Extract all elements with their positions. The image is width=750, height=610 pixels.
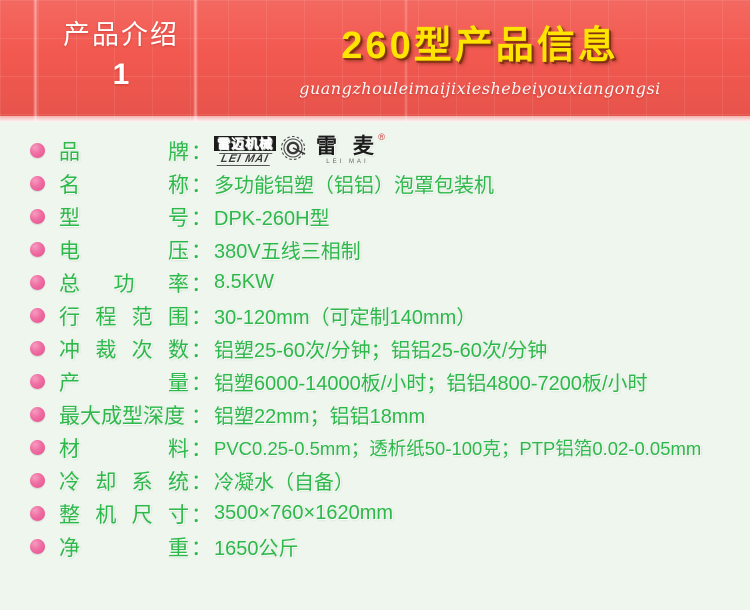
page-title: 260型产品信息 <box>230 22 730 70</box>
spec-colon: ： <box>191 367 212 397</box>
spec-row: 总 功 率 ： 8.5KW <box>0 266 750 299</box>
spec-label: 材 料 <box>59 433 191 463</box>
spec-colon: ： <box>191 466 212 496</box>
trademark-icon: ® <box>378 133 385 142</box>
spec-value: 3500×760×1620mm <box>214 502 750 525</box>
spec-label-char: 率 <box>168 268 189 298</box>
logo-leimai-machinery: 雷迈机械 LEI MAI <box>214 136 276 166</box>
spec-label-char: 机 <box>95 499 116 529</box>
logo-brand-name: 雷 麦 <box>316 136 379 157</box>
banner-title-block: 260型产品信息 guangzhouleimaijixieshebeiyouxi… <box>230 22 730 98</box>
logo-cn-name: 雷迈机械 <box>214 136 276 151</box>
spec-label-char: 材 <box>59 433 80 463</box>
spec-label-char: 冷 <box>59 466 80 496</box>
spec-row: 最 大 成 型 深 度 ： 铝塑22mm；铝铝18mm <box>0 398 750 431</box>
spec-label-char: 次 <box>132 334 153 364</box>
spec-label-char: 净 <box>59 532 80 562</box>
product-info-page: 产品介绍 1 260型产品信息 guangzhouleimaijixiesheb… <box>0 0 750 610</box>
spec-row: 冷 却 系 统 ： 冷凝水（自备） <box>0 464 750 497</box>
specification-list: 品 牌 ： 雷迈机械 LEI MAI <box>0 134 750 563</box>
spec-label: 冲 裁 次 数 <box>59 334 191 364</box>
spec-label-char: 料 <box>168 433 189 463</box>
spec-label: 净 重 <box>59 532 191 562</box>
spec-value: 8.5KW <box>214 271 750 294</box>
spec-label-char: 深 <box>143 400 164 430</box>
spec-value: 30-120mm（可定制140mm） <box>214 301 750 330</box>
bullet-icon <box>30 407 45 422</box>
bullet-icon <box>30 539 45 554</box>
spec-label: 产 量 <box>59 367 191 397</box>
spec-colon: ： <box>191 202 212 232</box>
bullet-icon <box>30 275 45 290</box>
spec-label-char: 总 <box>59 268 80 298</box>
spec-row: 产 量 ： 铝塑6000-14000板/小时；铝铝4800-7200板/小时 <box>0 365 750 398</box>
spec-row: 品 牌 ： 雷迈机械 LEI MAI <box>0 134 750 167</box>
bullet-icon <box>30 143 45 158</box>
spec-label-char: 尺 <box>132 499 153 529</box>
spec-label-char: 围 <box>168 301 189 331</box>
spec-label-char: 型 <box>122 400 143 430</box>
spec-value: 铝塑6000-14000板/小时；铝铝4800-7200板/小时 <box>214 367 750 396</box>
spec-colon: ： <box>191 334 212 364</box>
spec-colon: ： <box>191 499 212 529</box>
section-number: 1 <box>46 56 196 94</box>
spec-label: 最 大 成 型 深 度 <box>59 400 191 430</box>
spec-row: 材 料 ： PVC0.25-0.5mm；透析纸50-100克；PTP铝箔0.02… <box>0 431 750 464</box>
spec-row: 名 称 ： 多功能铝塑（铝铝）泡罩包装机 <box>0 167 750 200</box>
spec-label-char: 重 <box>168 532 189 562</box>
spec-label-char: 统 <box>168 466 189 496</box>
section-label-block: 产品介绍 1 <box>46 18 196 94</box>
logo-en-name: LEI MAI <box>217 153 273 166</box>
spec-label-char: 电 <box>59 235 80 265</box>
spec-label-char: 数 <box>168 334 189 364</box>
spec-value: 380V五线三相制 <box>214 235 750 264</box>
spec-value: 铝塑25-60次/分钟；铝铝25-60次/分钟 <box>214 334 750 363</box>
spec-label-char: 范 <box>132 301 153 331</box>
spec-value: 铝塑22mm；铝铝18mm <box>214 400 750 429</box>
spec-label-char: 号 <box>168 202 189 232</box>
bullet-icon <box>30 440 45 455</box>
spec-colon: ： <box>191 136 212 166</box>
spec-value: PVC0.25-0.5mm；透析纸50-100克；PTP铝箔0.02-0.05m… <box>214 435 750 461</box>
spec-label-char: 整 <box>59 499 80 529</box>
spec-label-char: 称 <box>168 169 189 199</box>
logo-brand-block: 雷 麦 LEI MAI ® <box>316 136 379 165</box>
spec-value: 雷迈机械 LEI MAI <box>214 136 750 166</box>
page-banner: 产品介绍 1 260型产品信息 guangzhouleimaijixiesheb… <box>0 0 750 122</box>
bullet-icon <box>30 176 45 191</box>
spec-label-char: 程 <box>95 301 116 331</box>
spec-colon: ： <box>191 532 212 562</box>
bullet-icon <box>30 473 45 488</box>
spec-label: 总 功 率 <box>59 268 191 298</box>
page-subtitle: guangzhouleimaijixieshebeiyouxiangongsi <box>230 79 730 98</box>
spec-label-char: 量 <box>168 367 189 397</box>
spec-label: 整 机 尺 寸 <box>59 499 191 529</box>
spec-label: 型 号 <box>59 202 191 232</box>
spec-label: 电 压 <box>59 235 191 265</box>
spec-label: 品 牌 <box>59 136 191 166</box>
spec-colon: ： <box>191 235 212 265</box>
spec-label-char: 度 <box>164 400 185 430</box>
spec-value: 多功能铝塑（铝铝）泡罩包装机 <box>214 169 750 198</box>
banner-bottom-edge <box>0 116 750 122</box>
spec-label-char: 冲 <box>59 334 80 364</box>
spec-row: 行 程 范 围 ： 30-120mm（可定制140mm） <box>0 299 750 332</box>
spec-row: 净 重 ： 1650公斤 <box>0 530 750 563</box>
bullet-icon <box>30 506 45 521</box>
spec-colon: ： <box>191 169 212 199</box>
spec-label-char: 行 <box>59 301 80 331</box>
spec-label-char: 系 <box>132 466 153 496</box>
spec-label-char: 产 <box>59 367 80 397</box>
spec-label: 名 称 <box>59 169 191 199</box>
bullet-icon <box>30 308 45 323</box>
gear-icon <box>278 133 308 169</box>
spec-label: 行 程 范 围 <box>59 301 191 331</box>
spec-label-char: 品 <box>59 136 80 166</box>
spec-label-char: 成 <box>101 400 122 430</box>
spec-label-char: 压 <box>168 235 189 265</box>
spec-label-char: 牌 <box>168 136 189 166</box>
spec-label-char: 寸 <box>168 499 189 529</box>
banner-divider-left <box>33 0 38 122</box>
bullet-icon <box>30 374 45 389</box>
spec-label-char: 型 <box>59 202 80 232</box>
spec-value: DPK-260H型 <box>214 202 750 231</box>
bullet-icon <box>30 341 45 356</box>
spec-row: 整 机 尺 寸 ： 3500×760×1620mm <box>0 497 750 530</box>
spec-colon: ： <box>191 400 212 430</box>
spec-row: 型 号 ： DPK-260H型 <box>0 200 750 233</box>
spec-label-char: 名 <box>59 169 80 199</box>
spec-colon: ： <box>191 268 212 298</box>
logo-brand-pinyin: LEI MAI <box>326 159 368 165</box>
spec-label-char: 却 <box>95 466 116 496</box>
spec-colon: ： <box>191 433 212 463</box>
spec-row: 冲 裁 次 数 ： 铝塑25-60次/分钟；铝铝25-60次/分钟 <box>0 332 750 365</box>
spec-row: 电 压 ： 380V五线三相制 <box>0 233 750 266</box>
spec-label: 冷 却 系 统 <box>59 466 191 496</box>
spec-value: 1650公斤 <box>214 532 750 561</box>
spec-label-char: 最 <box>59 400 80 430</box>
spec-label-char: 功 <box>114 268 135 298</box>
bullet-icon <box>30 242 45 257</box>
bullet-icon <box>30 209 45 224</box>
section-title: 产品介绍 <box>46 18 196 52</box>
brand-logo: 雷迈机械 LEI MAI <box>214 136 750 166</box>
spec-label-char: 大 <box>80 400 101 430</box>
spec-label-char: 裁 <box>95 334 116 364</box>
spec-colon: ： <box>191 301 212 331</box>
spec-value: 冷凝水（自备） <box>214 466 750 495</box>
